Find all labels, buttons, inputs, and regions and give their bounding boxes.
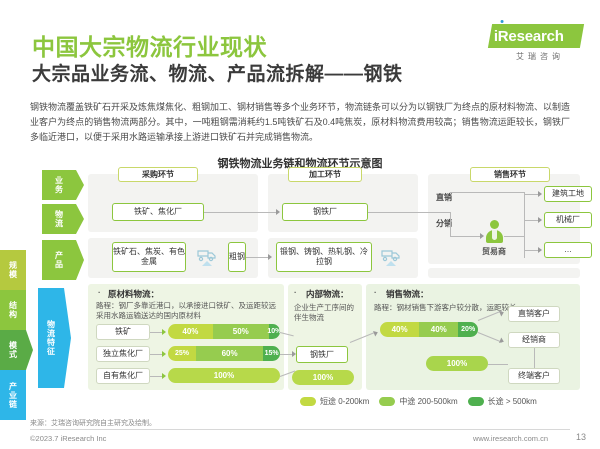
arrow-to-machinery [538,217,542,223]
logo-dot-icon [501,20,504,23]
legend-item-long: 长途 > 500km [468,396,537,407]
arrow-into-mill [292,351,296,357]
footer-copyright: ©2023.7 iResearch Inc [30,434,106,443]
row-tab-business: 业务 [42,170,76,200]
raw-bar-ic-seg-long: 15% [263,346,280,361]
row-tab-product-label: 产品 [54,251,65,269]
logo-chinese-name: 艾瑞咨询 [492,51,588,62]
sidebar-item-scale[interactable]: 规模 [0,250,26,290]
raw-bar-ic-seg-short: 25% [168,346,196,361]
sales-bar-terminal-seg-short: 100% [426,356,488,371]
connector-to-others [524,250,538,251]
legend-label-long: 长途 > 500km [488,396,537,407]
internal-bar-steel-mill: 100% [292,370,354,385]
logo-badge: iResearch [488,24,584,48]
sales-target-direct-customer: 直销客户 [508,306,560,322]
connector-raw-3 [150,376,162,377]
raw-row-label-own-coking: 自有焦化厂 [96,368,150,384]
legend-label-mid: 中途 200-500km [399,396,457,407]
node-iron-ore-coking-plant: 铁矿、焦化厂 [112,203,204,221]
arrow-procurement-to-processing [276,209,280,215]
internal-bar-seg-short: 100% [292,370,354,385]
arrow-to-others [538,247,542,253]
sidebar-nav: 规模 结构 模式 产业链 [0,250,26,420]
connector-trader-out [504,236,524,237]
stage-header-processing: 加工环节 [288,167,362,182]
legend-swatch-long [468,397,484,406]
arrow-raw-2 [162,351,166,357]
sidebar-item-structure[interactable]: 结构 [0,290,26,330]
connector-to-construction [524,194,538,195]
feature-title-sales: 销售物流： [386,288,429,300]
legend-swatch-mid [379,397,395,406]
feature-desc-raw: 路程：钢厂多靠近港口，以承接进口铁矿、及运距较远采用水路运输送达的国内原材料 [96,301,278,321]
node-steel-mill-internal: 钢铁厂 [296,346,348,363]
legend-item-mid: 中途 200-500km [379,396,457,407]
customer-machinery-factory: 机械厂 [544,212,592,228]
row-tab-product: 产品 [42,240,76,280]
connector-direct-top [450,192,524,193]
chart-legend: 短途 0-200km 中途 200-500km 长途 > 500km [300,396,537,407]
sales-bar-seg-short: 40% [380,322,419,337]
connector-raw-2 [150,354,162,355]
arrow-to-trader [480,233,484,239]
raw-bar-iron-ore: 40% 50% 10% [168,324,280,339]
product-raw-materials: 铁矿石、焦炭、有色金属 [112,242,186,272]
panel-product-sales [428,268,580,278]
product-finished-steel: 锻钢、铸钢、热轧钢、冷拉钢 [276,242,372,272]
customer-others: … [544,242,592,258]
sales-bar-seg-long: 20% [458,322,478,337]
row-tab-logistics-feature: 物流特征 [38,288,64,388]
row-tab-business-label: 业务 [54,176,65,194]
footer-divider [30,429,570,430]
connector-branch-vertical [450,212,451,236]
connector-crude-to-finished [246,257,268,258]
feature-desc-internal: 企业生产工序间的伴生物流 [294,303,358,323]
flow-diagram: 业务 物流 产品 物流特征 采购环节 加工环节 销售环节 铁矿、焦化厂 钢铁厂 [30,170,582,402]
row-tab-logistics-label: 物流 [54,210,65,228]
raw-bar-iron-ore-seg-mid: 50% [213,324,269,339]
raw-row-label-iron-ore: 铁矿 [96,324,150,340]
body-paragraph: 钢铁物流覆盖铁矿石开采及炼焦煤焦化、粗钢加工、钢材销售等多个业务环节，物流链条可… [30,100,570,145]
raw-row-label-independent-coking: 独立焦化厂 [96,346,150,362]
source-note: 来源：艾瑞咨询研究院自主研究及绘制。 [30,418,156,428]
connector-raw-1 [150,332,162,333]
connector-mill-to-sales [368,212,450,213]
sidebar-item-industry-chain[interactable]: 产业链 [0,370,26,420]
product-crude-steel: 粗钢 [228,242,246,272]
sidebar-item-model[interactable]: 模式 [0,330,26,370]
row-tab-logistics-feature-label: 物流特征 [46,320,57,356]
connector-customer-bus [524,192,525,258]
sales-bar-terminal: 100% [426,356,488,371]
legend-swatch-short [300,397,316,406]
sales-target-dealer: 经销商 [508,332,560,348]
arrow-raw-3 [162,373,166,379]
raw-bar-ic-seg-mid: 60% [196,346,263,361]
arrow-to-construction [538,191,542,197]
row-tab-logistics: 物流 [42,204,76,234]
page-title: 中国大宗物流行业现状 [32,28,267,62]
customer-construction-site: 建筑工地 [544,186,592,202]
arrow-crude-to-finished [268,254,272,260]
raw-bar-independent-coking: 25% 60% 15% [168,346,280,361]
raw-bar-own-coking-seg-short: 100% [168,368,280,383]
connector-to-machinery [524,220,538,221]
bullet-raw: · [98,288,101,297]
page-subtitle: 大宗品业务流、物流、产品流拆解——钢铁 [32,59,403,86]
connector-to-trader [450,236,480,237]
connector-procurement-to-processing [204,212,276,213]
truck-icon-2 [380,246,404,266]
iresearch-logo: iResearch 艾瑞咨询 [490,24,590,64]
label-trader: 贸易商 [482,246,506,257]
stage-header-procurement: 采购环节 [118,167,198,182]
bullet-sales: · [374,288,377,297]
trader-head-icon [490,220,499,229]
node-steel-mill-top: 钢铁厂 [282,203,368,221]
trader-body-icon [486,230,503,243]
feature-title-raw: 原材料物流： [108,288,159,300]
connector-terminal-bar-to-end [488,364,508,365]
slide: 中国大宗物流行业现状 大宗品业务流、物流、产品流拆解——钢铁 iResearch… [0,0,600,449]
arrow-raw-1 [162,329,166,335]
logo-text: iResearch [494,25,586,49]
sales-bar-distribution: 40% 40% 20% [380,322,478,337]
stage-header-sales: 销售环节 [470,167,550,182]
connector-dealer-to-end [534,348,535,368]
feature-title-internal: 内部物流： [306,288,349,300]
label-direct-sales: 直销 [436,192,452,203]
raw-bar-iron-ore-seg-short: 40% [168,324,213,339]
sales-target-end-customer: 终端客户 [508,368,560,384]
bullet-internal: · [294,288,297,297]
footer-website: www.iresearch.com.cn [473,434,548,443]
legend-item-short: 短途 0-200km [300,396,369,407]
legend-label-short: 短途 0-200km [320,396,369,407]
footer-page-number: 13 [576,432,586,442]
raw-bar-own-coking: 100% [168,368,280,383]
sales-bar-seg-mid: 40% [419,322,458,337]
truck-icon-1 [196,246,220,266]
